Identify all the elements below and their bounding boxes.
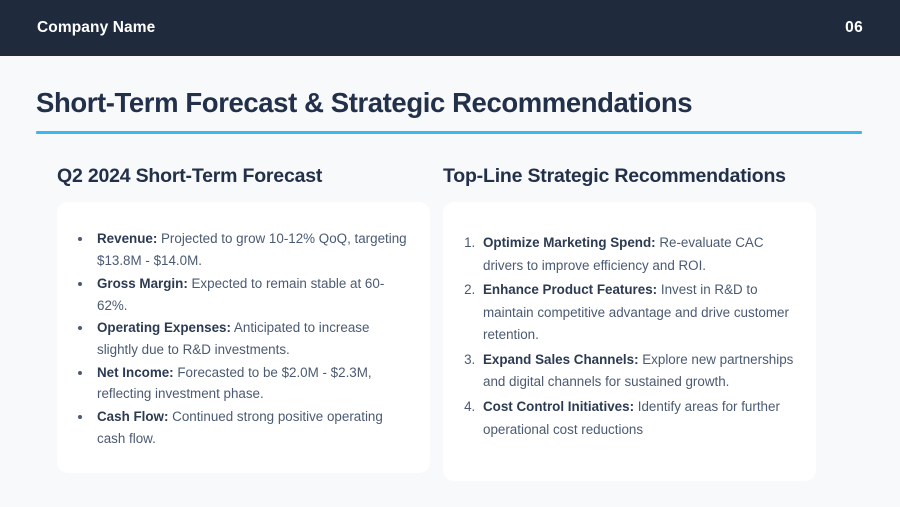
list-item: Net Income: Forecasted to be $2.0M - $2.… [93,362,408,405]
list-item-label: Optimize Marketing Spend: [483,235,656,250]
forecast-bullet-list: Revenue: Projected to grow 10-12% QoQ, t… [67,228,408,449]
list-item-label: Revenue: [97,231,157,246]
title-block: Short-Term Forecast & Strategic Recommen… [36,88,862,134]
list-item-label: Cost Control Initiatives: [483,399,634,414]
recommendations-numbered-list: Optimize Marketing Spend: Re-evaluate CA… [453,232,802,441]
list-item: Expand Sales Channels: Explore new partn… [479,349,802,394]
slide-header-bar: Company Name 06 [0,0,900,56]
title-accent-rule [36,131,862,134]
list-item-label: Expand Sales Channels: [483,352,639,367]
list-item: Revenue: Projected to grow 10-12% QoQ, t… [93,228,408,271]
column-forecast: Q2 2024 Short-Term Forecast Revenue: Pro… [0,165,430,481]
column-heading-recommendations: Top-Line Strategic Recommendations [443,165,843,188]
list-item-label: Gross Margin: [97,276,188,291]
column-heading-forecast: Q2 2024 Short-Term Forecast [57,165,430,188]
list-item-label: Operating Expenses: [97,320,231,335]
list-item: Gross Margin: Expected to remain stable … [93,273,408,316]
content-columns: Q2 2024 Short-Term Forecast Revenue: Pro… [0,165,900,481]
list-item: Operating Expenses: Anticipated to incre… [93,317,408,360]
company-name-label: Company Name [37,19,155,37]
list-item: Enhance Product Features: Invest in R&D … [479,279,802,347]
list-item-label: Cash Flow: [97,409,168,424]
list-item: Optimize Marketing Spend: Re-evaluate CA… [479,232,802,277]
page-title: Short-Term Forecast & Strategic Recommen… [36,88,862,119]
recommendations-card: Optimize Marketing Spend: Re-evaluate CA… [443,202,816,481]
list-item: Cost Control Initiatives: Identify areas… [479,396,802,441]
list-item-label: Enhance Product Features: [483,282,657,297]
list-item-label: Net Income: [97,365,174,380]
slide: Company Name 06 Short-Term Forecast & St… [0,0,900,507]
list-item: Cash Flow: Continued strong positive ope… [93,406,408,449]
page-number-label: 06 [845,19,863,37]
forecast-card: Revenue: Projected to grow 10-12% QoQ, t… [57,202,430,473]
column-recommendations: Top-Line Strategic Recommendations Optim… [430,165,900,481]
